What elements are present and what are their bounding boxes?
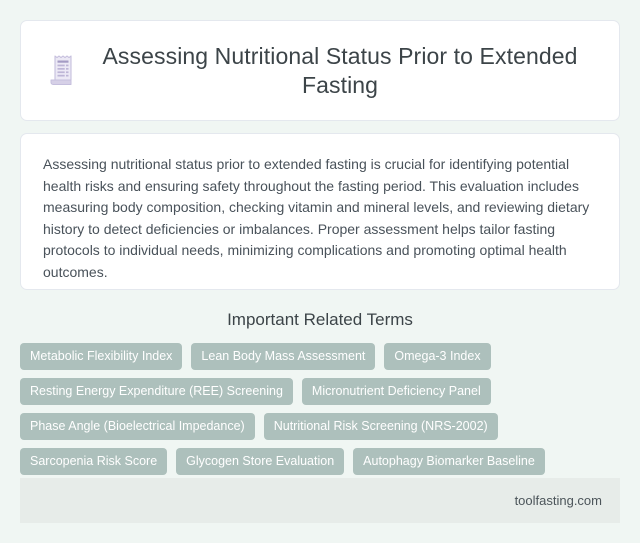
term-tag[interactable]: Lean Body Mass Assessment <box>191 343 375 370</box>
term-tag[interactable]: Omega-3 Index <box>384 343 490 370</box>
related-terms-list: Metabolic Flexibility Index Lean Body Ma… <box>20 343 624 475</box>
title-row: Assessing Nutritional Status Prior to Ex… <box>47 42 593 100</box>
term-tag[interactable]: Nutritional Risk Screening (NRS-2002) <box>264 413 498 440</box>
term-tag[interactable]: Sarcopenia Risk Score <box>20 448 167 475</box>
description-card: Assessing nutritional status prior to ex… <box>20 133 620 290</box>
page-root: Assessing Nutritional Status Prior to Ex… <box>0 0 640 543</box>
title-card: Assessing Nutritional Status Prior to Ex… <box>20 20 620 121</box>
term-tag[interactable]: Metabolic Flexibility Index <box>20 343 182 370</box>
related-terms-heading: Important Related Terms <box>0 310 640 330</box>
footer-bar: toolfasting.com <box>20 478 620 523</box>
receipt-document-icon <box>50 55 76 87</box>
term-tag[interactable]: Glycogen Store Evaluation <box>176 448 344 475</box>
term-tag[interactable]: Micronutrient Deficiency Panel <box>302 378 491 405</box>
description-text: Assessing nutritional status prior to ex… <box>43 154 597 283</box>
term-tag[interactable]: Autophagy Biomarker Baseline <box>353 448 545 475</box>
page-title: Assessing Nutritional Status Prior to Ex… <box>90 42 590 100</box>
footer-site-label: toolfasting.com <box>515 493 602 508</box>
term-tag[interactable]: Resting Energy Expenditure (REE) Screeni… <box>20 378 293 405</box>
term-tag[interactable]: Phase Angle (Bioelectrical Impedance) <box>20 413 255 440</box>
